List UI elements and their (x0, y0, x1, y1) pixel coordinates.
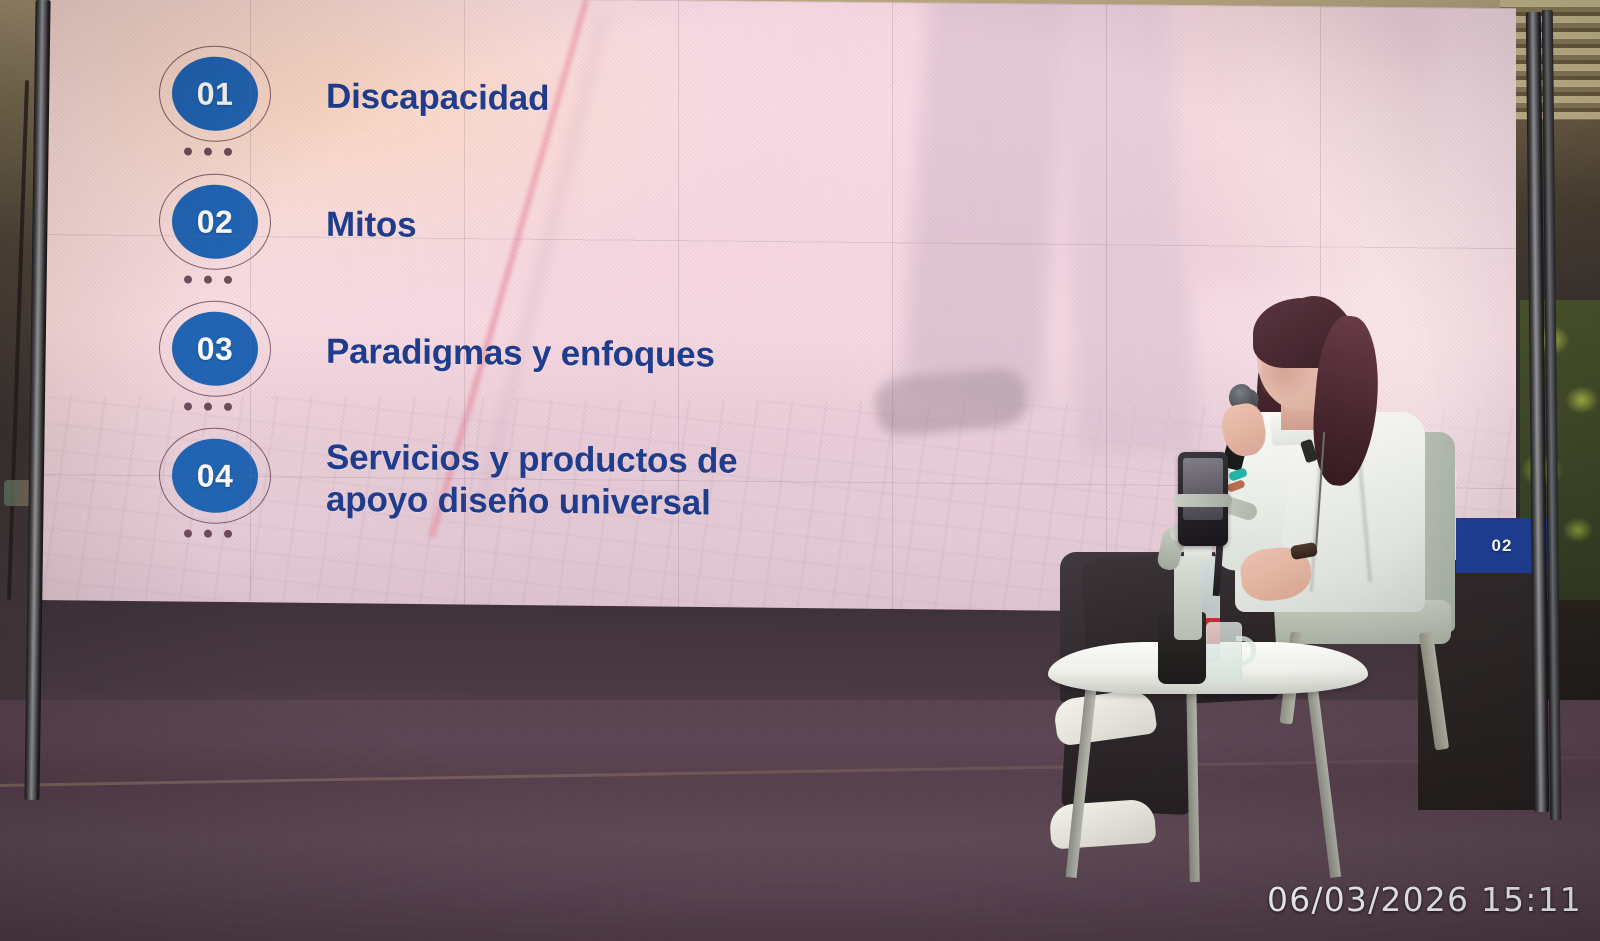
badge-dots-icon (184, 402, 232, 410)
badge-number-02: 02 (172, 184, 258, 259)
badge-number-01: 01 (172, 56, 258, 131)
agenda-item-04: 04 Servicios y productos de apoyo diseño… (156, 425, 737, 535)
agenda-label-03: Paradigmas y enfoques (326, 331, 715, 377)
agenda-label-02: Mitos (326, 204, 416, 247)
agenda-badge-01: 01 (156, 43, 274, 148)
agenda-item-02: 02 Mitos (156, 171, 416, 277)
badge-dots-icon (184, 529, 232, 537)
camera-timestamp: 06/03/2026 15:11 (1267, 880, 1582, 919)
agenda-badge-04: 04 (156, 425, 274, 530)
badge-dots-icon (184, 147, 232, 155)
agenda-label-01: Discapacidad (326, 76, 549, 120)
gimbal-base (1174, 560, 1202, 640)
signage-label: 02 (1492, 536, 1513, 556)
badge-dots-icon (184, 275, 232, 283)
badge-number-03: 03 (172, 311, 258, 386)
badge-number-04: 04 (172, 438, 258, 513)
agenda-label-04: Servicios y productos de apoyo diseño un… (326, 437, 737, 525)
agenda-badge-02: 02 (156, 171, 274, 276)
camera-frame: 01 Discapacidad 02 Mitos 03 (0, 0, 1600, 941)
agenda-item-01: 01 Discapacidad (156, 43, 549, 151)
agenda-badge-03: 03 (156, 298, 274, 403)
agenda-item-03: 03 Paradigmas y enfoques (156, 298, 715, 407)
